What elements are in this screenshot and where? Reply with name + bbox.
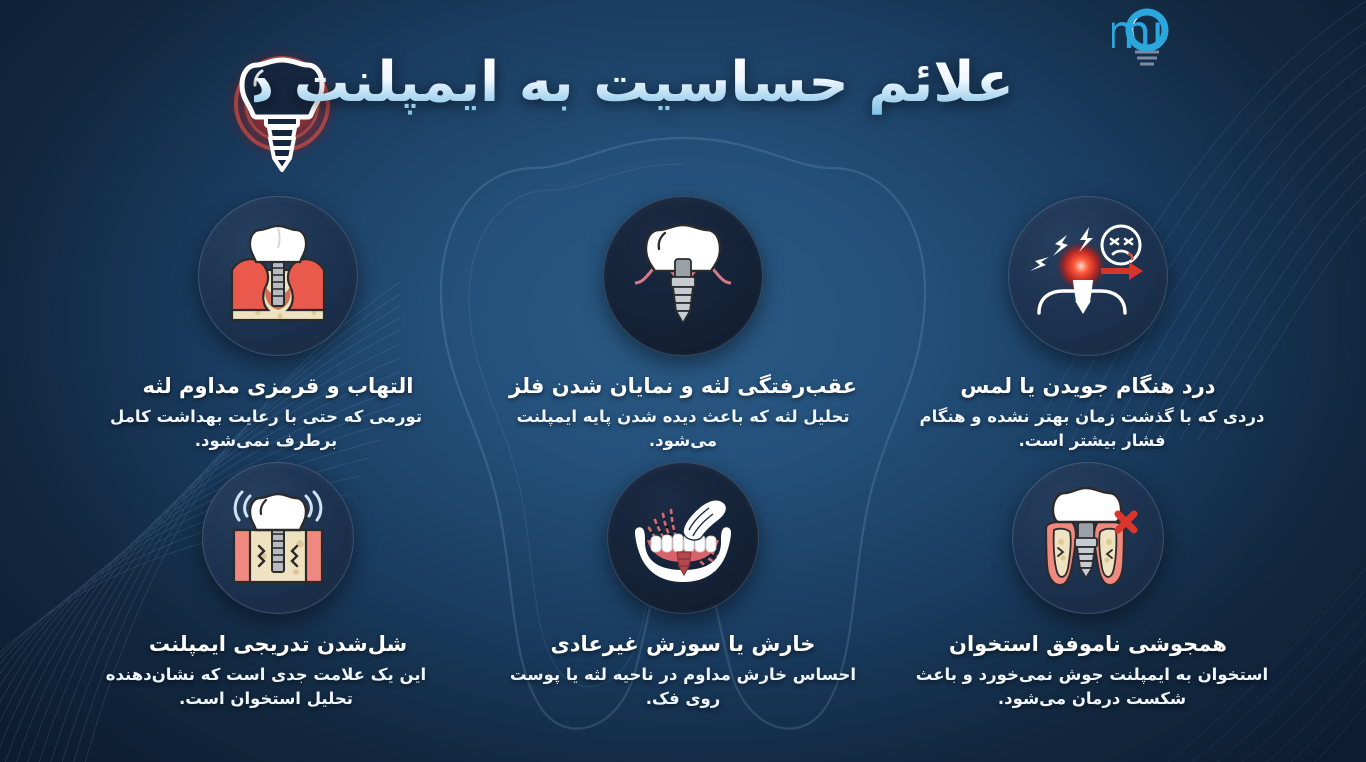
header: ahimi	[0, 0, 1366, 190]
card-description: این یک علامت جدی است که نشان‌دهنده تحلیل…	[78, 663, 478, 710]
implant-failed-bone-x-icon	[1032, 484, 1144, 592]
implant-pain-lightning-icon	[1029, 221, 1147, 331]
card-description: استخوان به ایمپلنت جوش نمی‌خورد و باعث ش…	[888, 663, 1288, 710]
implant-gum-recession-icon	[627, 221, 739, 331]
symptom-grid: التهاب و قرمزی مداوم لثه تورمی که حتی با…	[0, 192, 1366, 762]
svg-text:ahimi: ahimi	[1112, 8, 1164, 59]
card-title: التهاب و قرمزی مداوم لثه	[78, 373, 478, 400]
red-x-icon	[1118, 514, 1134, 530]
card-description: تورمی که حتی با رعایت بهداشت کامل برطرف …	[78, 405, 478, 452]
icon-circle	[1012, 462, 1164, 614]
card-pain-on-chewing[interactable]: درد هنگام جویدن یا لمس دردی که با گذشت ز…	[888, 196, 1288, 452]
card-failed-osseointegration[interactable]: همجوشی ناموفق استخوان استخوان به ایمپلنت…	[888, 462, 1288, 710]
card-implant-loosening[interactable]: شل‌شدن تدریجی ایمپلنت این یک علامت جدی ا…	[78, 462, 478, 710]
card-title: عقب‌رفتگی لثه و نمایان شدن فلز	[483, 373, 883, 400]
implant-loose-wobble-icon	[224, 486, 332, 590]
icon-circle	[198, 196, 358, 356]
infographic-canvas: ahimi	[0, 0, 1366, 762]
card-description: تحلیل لثه که باعث دیده شدن پایه ایمپلنت …	[483, 405, 883, 452]
card-itching-burning[interactable]: خارش یا سوزش غیرعادی احساس خارش مداوم در…	[483, 462, 883, 710]
card-title: همجوشی ناموفق استخوان	[888, 631, 1288, 658]
icon-circle	[202, 462, 354, 614]
scratching-hand-icon	[683, 500, 726, 540]
implant-inflamed-gum-icon	[224, 224, 332, 328]
icon-circle	[603, 196, 763, 356]
card-title: شل‌شدن تدریجی ایمپلنت	[78, 631, 478, 658]
card-description: دردی که با گذشت زمان بهتر نشده و هنگام ف…	[888, 405, 1288, 452]
jaw-itch-scratch-hand-icon	[625, 484, 741, 592]
ahimi-wordmark: ahimi	[1112, 8, 1342, 70]
card-description: احساس خارش مداوم در ناحیه لثه یا پوست رو…	[483, 663, 883, 710]
card-title: درد هنگام جویدن یا لمس	[888, 373, 1288, 400]
card-gum-recession[interactable]: عقب‌رفتگی لثه و نمایان شدن فلز تحلیل لثه…	[483, 196, 883, 452]
card-gum-inflammation[interactable]: التهاب و قرمزی مداوم لثه تورمی که حتی با…	[78, 196, 478, 452]
card-title: خارش یا سوزش غیرعادی	[483, 631, 883, 658]
icon-circle	[1008, 196, 1168, 356]
page-title: علائم حساسیت به ایمپلنت دندان	[254, 52, 1014, 115]
icon-circle	[607, 462, 759, 614]
brand-logo[interactable]: ahimi	[1112, 8, 1342, 70]
